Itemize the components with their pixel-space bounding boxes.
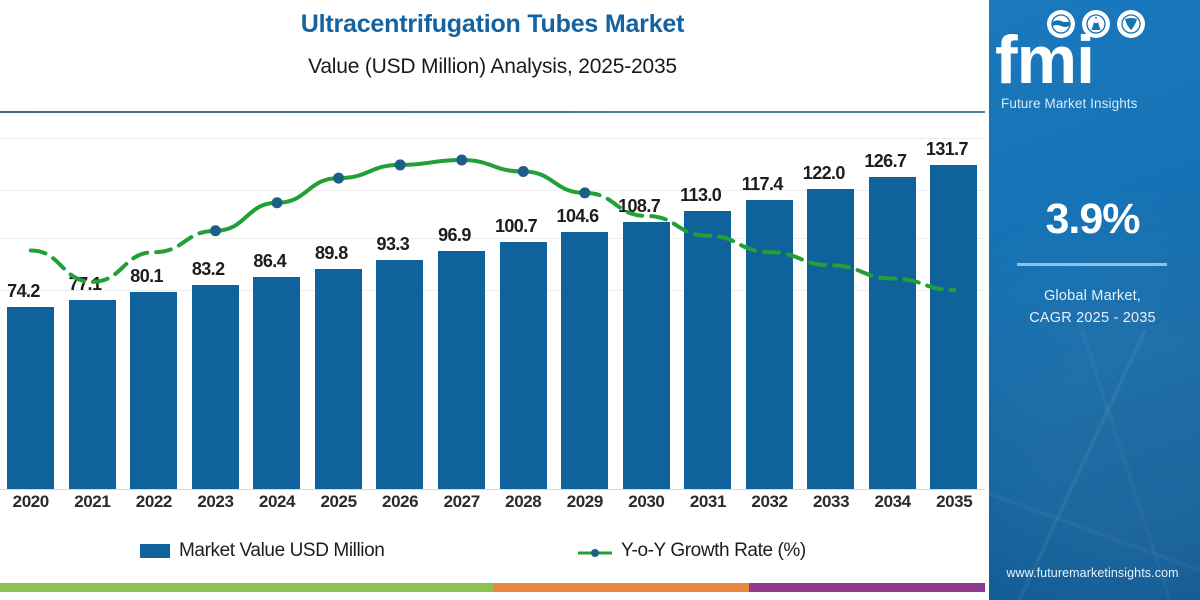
x-axis-tick: 2029: [554, 492, 616, 512]
bar[interactable]: [807, 189, 854, 490]
legend: Market Value USD Million Y-o-Y Growth Ra…: [0, 540, 985, 578]
x-axis-tick: 2027: [431, 492, 493, 512]
bar[interactable]: [623, 222, 670, 490]
bar-value-label: 126.7: [853, 151, 918, 172]
legend-item-market-value[interactable]: Market Value USD Million: [140, 540, 384, 562]
x-axis-tick: 2028: [493, 492, 555, 512]
bar-value-label: 86.4: [237, 251, 302, 272]
legend-item-growth-rate[interactable]: Y-o-Y Growth Rate (%): [578, 540, 806, 562]
page-title: Ultracentrifugation Tubes Market: [0, 10, 985, 39]
x-axis-tick: 2030: [616, 492, 678, 512]
bar-value-label: 131.7: [914, 139, 979, 160]
x-axis-tick: 2035: [923, 492, 985, 512]
bar-value-label: 89.8: [299, 243, 364, 264]
bar[interactable]: [69, 300, 116, 490]
fmi-tagline: Future Market Insights: [1001, 96, 1200, 111]
chart-header: Ultracentrifugation Tubes Market Value (…: [0, 0, 985, 111]
bar-value-label: 113.0: [668, 185, 733, 206]
bar-value-label: 74.2: [0, 281, 56, 302]
legend-line-swatch: [578, 544, 612, 558]
bar[interactable]: [684, 211, 731, 490]
bar[interactable]: [500, 242, 547, 490]
bar-slot: 104.6: [554, 118, 616, 490]
bar-value-label: 104.6: [545, 206, 610, 227]
fmi-brand-panel: fmi Future Market Insights 3.9% Global M…: [985, 0, 1200, 600]
x-axis-tick: 2024: [246, 492, 308, 512]
bar-slot: 131.7: [923, 118, 985, 490]
bar[interactable]: [253, 277, 300, 490]
bar-slot: 122.0: [800, 118, 862, 490]
bar-value-label: 80.1: [114, 266, 179, 287]
x-axis-tick: 2022: [123, 492, 185, 512]
chart-screenshot: Ultracentrifugation Tubes Market Value (…: [0, 0, 1200, 600]
bar-slot: 96.9: [431, 118, 493, 490]
cagr-caption-line2: CAGR 2025 - 2035: [985, 310, 1200, 326]
x-axis-tick: 2023: [185, 492, 247, 512]
bar-slot: 126.7: [862, 118, 924, 490]
x-axis-tick: 2033: [800, 492, 862, 512]
chart-panel: Ultracentrifugation Tubes Market Value (…: [0, 0, 985, 600]
bar[interactable]: [7, 307, 54, 490]
bar-slot: 108.7: [616, 118, 678, 490]
bar[interactable]: [930, 165, 977, 490]
header-divider: [0, 111, 985, 113]
x-axis-labels: 2020202120222023202420252026202720282029…: [0, 492, 985, 526]
bar-slot: 89.8: [308, 118, 370, 490]
bar[interactable]: [869, 177, 916, 490]
fmi-wordmark: fmi: [995, 26, 1200, 94]
bar[interactable]: [130, 292, 177, 490]
x-axis-tick: 2021: [62, 492, 124, 512]
footer-stripe: [0, 583, 985, 592]
bar-slot: 93.3: [369, 118, 431, 490]
bar-slot: 100.7: [493, 118, 555, 490]
legend-bar-swatch: [140, 544, 170, 558]
bar-value-label: 93.3: [360, 234, 425, 255]
legend-bar-label: Market Value USD Million: [179, 540, 384, 562]
x-axis-tick: 2026: [369, 492, 431, 512]
legend-line-label: Y-o-Y Growth Rate (%): [621, 540, 806, 562]
x-axis-tick: 2031: [677, 492, 739, 512]
bar-value-label: 117.4: [730, 174, 795, 195]
bar-slot: 86.4: [246, 118, 308, 490]
stripe-segment-purple: [749, 583, 985, 592]
bar-slot: 74.2: [0, 118, 62, 490]
bar-slot: 83.2: [185, 118, 247, 490]
bar-slot: 77.1: [62, 118, 124, 490]
cagr-value: 3.9%: [985, 195, 1200, 244]
stripe-segment-green: [0, 583, 493, 592]
bar-value-label: 96.9: [422, 225, 487, 246]
cagr-caption-line1: Global Market,: [985, 288, 1200, 304]
fmi-website-url[interactable]: www.futuremarketinsights.com: [985, 566, 1200, 580]
x-axis-tick: 2032: [739, 492, 801, 512]
cagr-divider: [1017, 263, 1167, 266]
bar[interactable]: [315, 269, 362, 491]
bar-value-label: 83.2: [176, 259, 241, 280]
fmi-logo: fmi Future Market Insights: [985, 8, 1200, 116]
x-axis-line: [0, 489, 985, 490]
bar[interactable]: [561, 232, 608, 490]
plot-area: 74.277.180.183.286.489.893.396.9100.7104…: [0, 118, 985, 490]
x-axis-tick: 2020: [0, 492, 62, 512]
bar-value-label: 100.7: [484, 216, 549, 237]
bar-value-label: 108.7: [607, 196, 672, 217]
x-axis-tick: 2025: [308, 492, 370, 512]
page-subtitle: Value (USD Million) Analysis, 2025-2035: [0, 55, 985, 79]
bar[interactable]: [438, 251, 485, 490]
x-axis-tick: 2034: [862, 492, 924, 512]
bar[interactable]: [746, 200, 793, 490]
bar[interactable]: [376, 260, 423, 490]
bar-value-label: 122.0: [791, 163, 856, 184]
bar-slot: 80.1: [123, 118, 185, 490]
bar[interactable]: [192, 285, 239, 490]
stripe-segment-orange: [493, 583, 749, 592]
bar-value-label: 77.1: [53, 274, 118, 295]
